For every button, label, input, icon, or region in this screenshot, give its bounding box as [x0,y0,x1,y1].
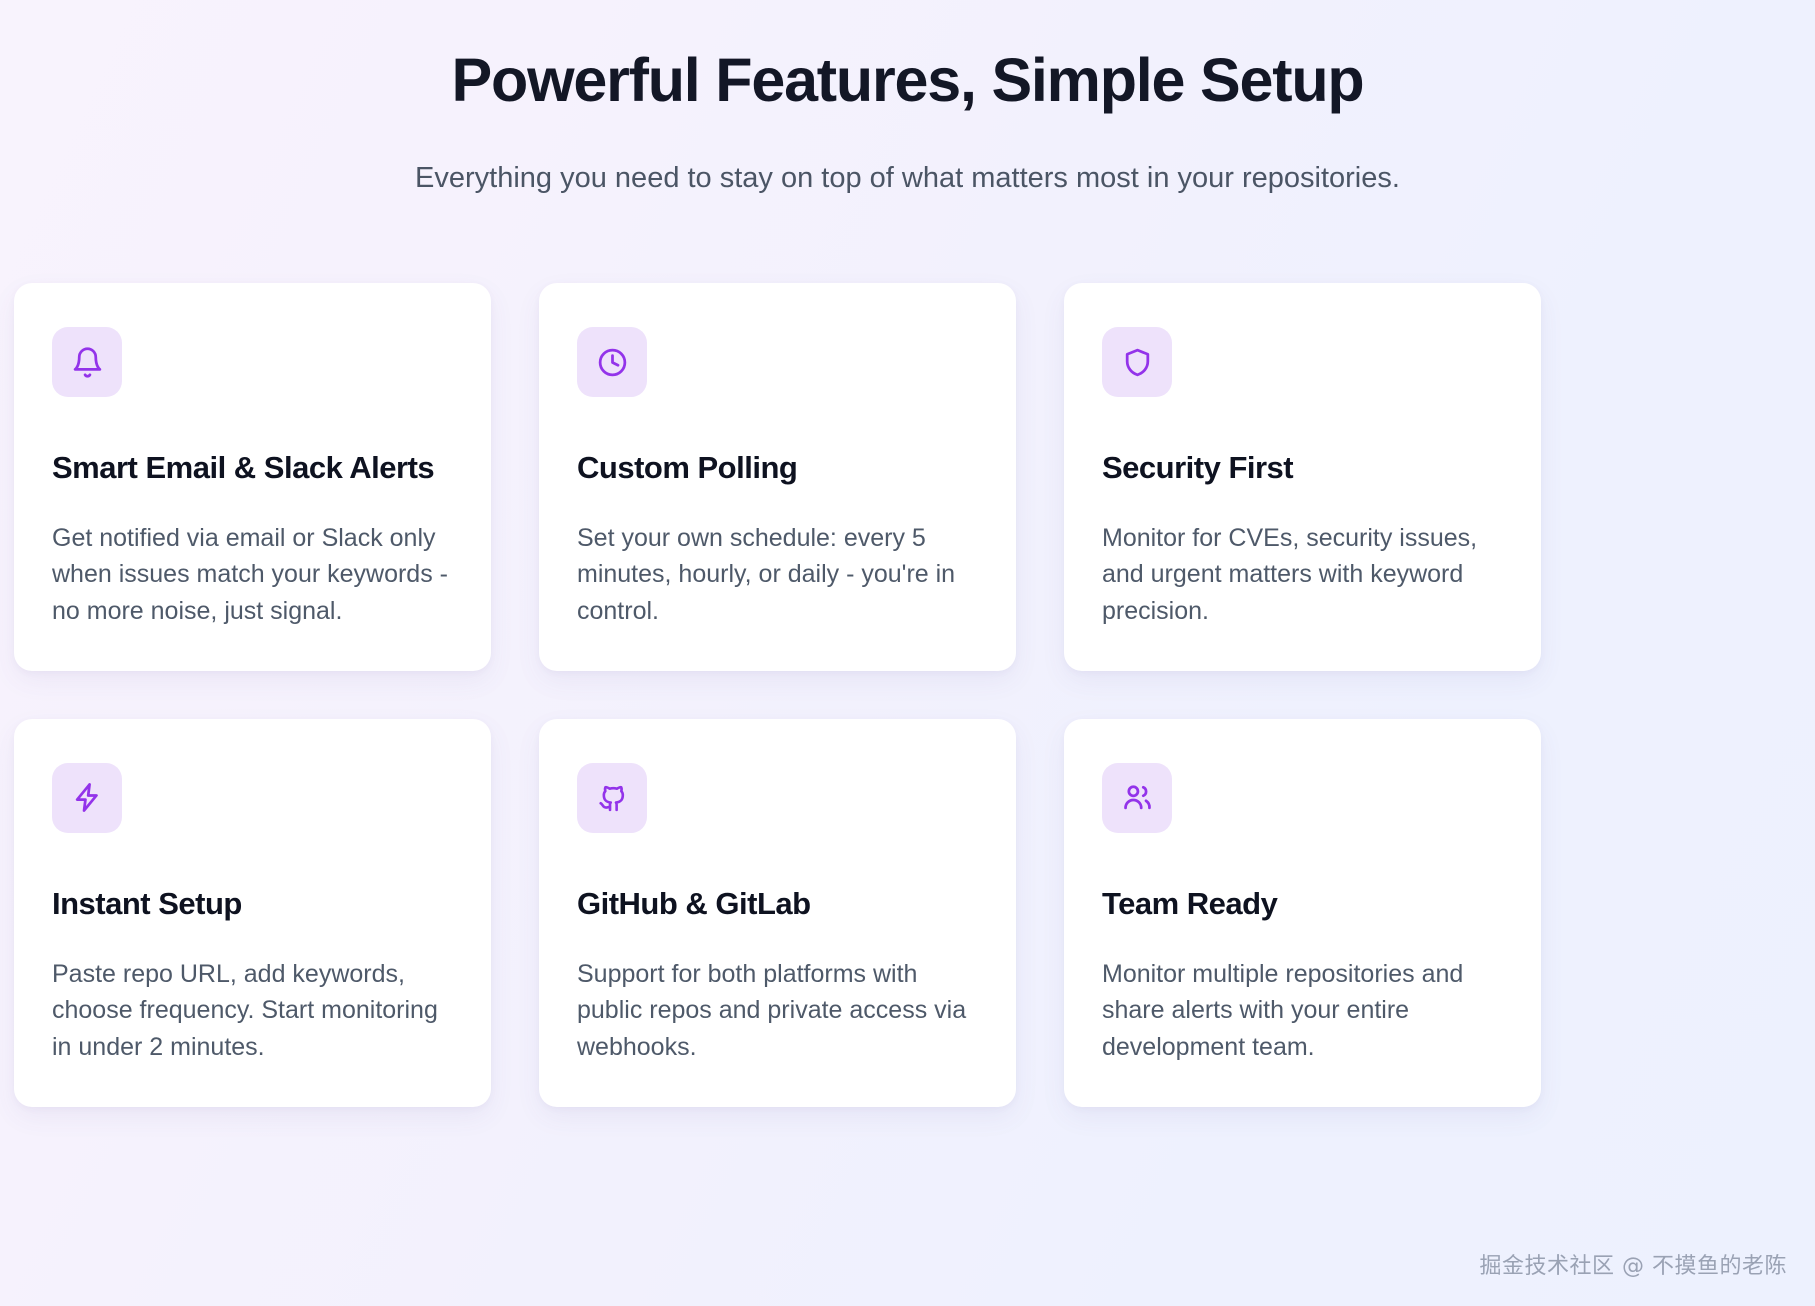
clock-icon [596,346,629,379]
feature-title: Instant Setup [52,885,453,922]
feature-description: Monitor for CVEs, security issues, and u… [1102,520,1503,629]
page-subtitle: Everything you need to stay on top of wh… [0,160,1815,198]
feature-title: GitHub & GitLab [577,885,978,922]
feature-title: Security First [1102,449,1503,486]
feature-title: Smart Email & Slack Alerts [52,449,453,486]
icon-tile [1102,763,1172,833]
icon-tile [52,763,122,833]
lightning-bolt-icon [71,781,104,814]
feature-description: Monitor multiple repositories and share … [1102,956,1503,1065]
github-icon [596,781,629,814]
features-page: Powerful Features, Simple Setup Everythi… [0,0,1815,1306]
feature-card-team-ready[interactable]: Team Ready Monitor multiple repositories… [1064,719,1541,1107]
watermark: 掘金技术社区 @ 不摸鱼的老陈 [1480,1248,1788,1280]
bell-icon [71,346,104,379]
icon-tile [1102,327,1172,397]
feature-description: Support for both platforms with public r… [577,956,978,1065]
feature-card-custom-polling[interactable]: Custom Polling Set your own schedule: ev… [539,283,1016,671]
feature-description: Get notified via email or Slack only whe… [52,520,453,629]
feature-title: Team Ready [1102,885,1503,922]
feature-description: Paste repo URL, add keywords, choose fre… [52,956,453,1065]
icon-tile [52,327,122,397]
feature-card-instant-setup[interactable]: Instant Setup Paste repo URL, add keywor… [14,719,491,1107]
page-header: Powerful Features, Simple Setup Everythi… [0,0,1815,198]
feature-card-security-first[interactable]: Security First Monitor for CVEs, securit… [1064,283,1541,671]
page-title: Powerful Features, Simple Setup [0,46,1815,114]
features-grid: Smart Email & Slack Alerts Get notified … [14,283,1801,1107]
users-icon [1121,781,1154,814]
feature-title: Custom Polling [577,449,978,486]
shield-icon [1121,346,1154,379]
icon-tile [577,763,647,833]
feature-card-github-gitlab[interactable]: GitHub & GitLab Support for both platfor… [539,719,1016,1107]
feature-card-smart-email-slack-alerts[interactable]: Smart Email & Slack Alerts Get notified … [14,283,491,671]
icon-tile [577,327,647,397]
feature-description: Set your own schedule: every 5 minutes, … [577,520,978,629]
